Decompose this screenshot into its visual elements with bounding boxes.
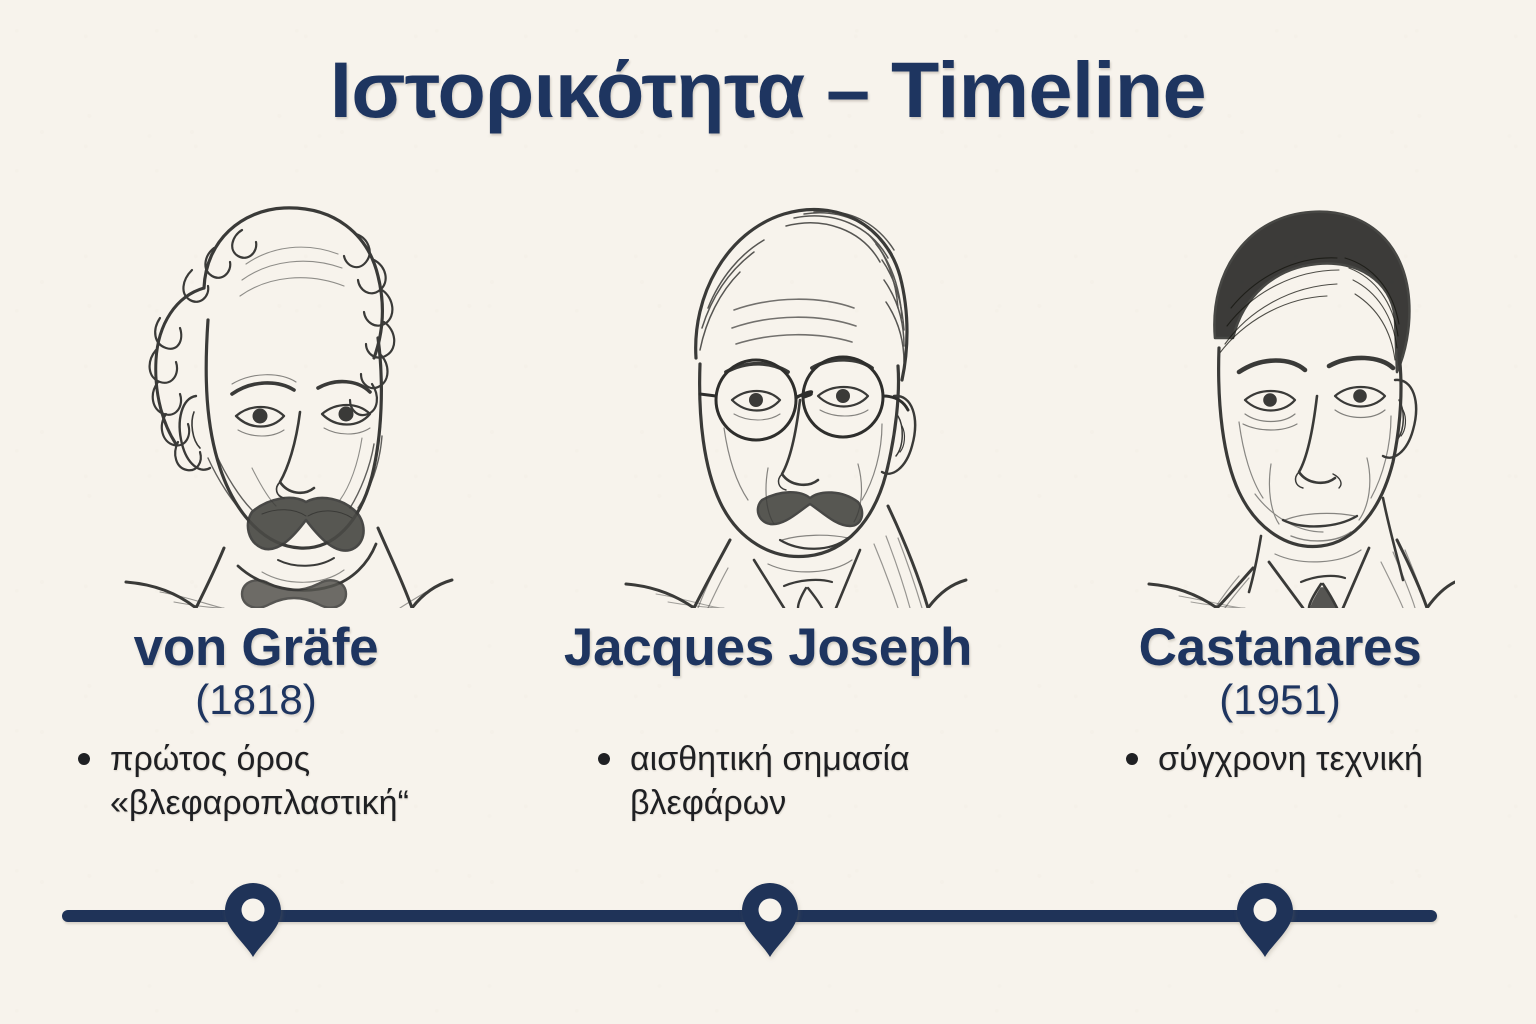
list-item: πρώτος όρος «βλεφαροπλαστική“ [78, 737, 476, 825]
person-name: Castanares [1139, 620, 1422, 675]
page-title: Ιστορικότητα – Timeline [0, 44, 1536, 136]
fact-text: πρώτος όρος «βλεφαροπλαστική“ [110, 740, 409, 822]
fact-list: σύγχρονη τεχνική [1080, 737, 1480, 781]
fact-list: αισθητική σημασία βλεφάρων [548, 737, 988, 825]
timeline-axis [62, 910, 1437, 922]
bullet-dot [78, 753, 90, 765]
timeline-entry-1: von Gräfe (1818) πρώτος όρος «βλεφαροπλα… [0, 168, 512, 868]
person-name: Jacques Joseph [564, 620, 972, 675]
timeline-entry-3: Castanares (1951) σύγχρονη τεχνική [1024, 168, 1536, 868]
timeline-marker-2[interactable] [738, 881, 802, 959]
bullet-dot [598, 753, 610, 765]
portrait-castanares [1105, 168, 1455, 608]
portrait-jacques-joseph [568, 168, 968, 608]
bullet-dot [1126, 753, 1138, 765]
list-item: αισθητική σημασία βλεφάρων [598, 737, 988, 825]
timeline-marker-3[interactable] [1233, 881, 1297, 959]
fact-text: σύγχρονη τεχνική [1158, 740, 1423, 778]
timeline-entries: von Gräfe (1818) πρώτος όρος «βλεφαροπλα… [0, 168, 1536, 868]
timeline-entry-2: Jacques Joseph αισθητική σημασία βλεφάρω… [512, 168, 1024, 868]
person-name: von Gräfe [134, 620, 379, 675]
list-item: σύγχρονη τεχνική [1126, 737, 1480, 781]
timeline-marker-1[interactable] [221, 881, 285, 959]
fact-list: πρώτος όρος «βλεφαροπλαστική“ [36, 737, 476, 825]
fact-text: αισθητική σημασία βλεφάρων [630, 740, 910, 822]
timeline-poster: Ιστορικότητα – Timeline [0, 0, 1536, 1024]
person-year: (1951) [1219, 675, 1340, 725]
person-year: (1818) [195, 675, 316, 725]
portrait-von-graefe [56, 168, 456, 608]
